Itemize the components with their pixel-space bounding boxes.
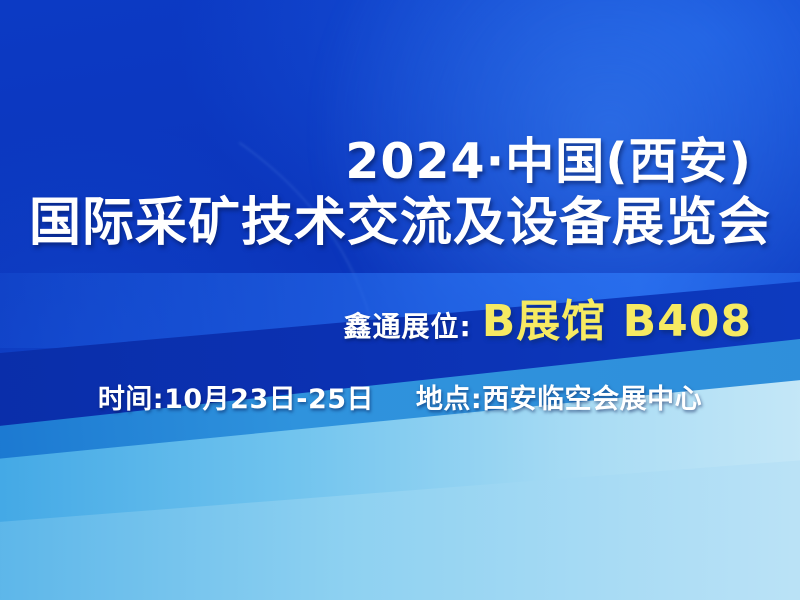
- title-line-2: 国际采矿技术交流及设备展览会: [0, 180, 800, 255]
- event-time: 时间:10月23日-25日: [98, 384, 374, 415]
- event-place: 地点:西安临空会展中心: [416, 384, 702, 415]
- event-meta-row: 时间:10月23日-25日 地点:西安临空会展中心: [0, 377, 800, 416]
- booth-label: 鑫通展位:: [344, 305, 472, 345]
- exhibition-poster: 2024·中国(西安) 国际采矿技术交流及设备展览会 鑫通展位: B展馆 B40…: [0, 0, 800, 600]
- poster-content: 2024·中国(西安) 国际采矿技术交流及设备展览会 鑫通展位: B展馆 B40…: [0, 0, 800, 600]
- booth-number: B展馆 B408: [482, 285, 752, 349]
- booth-row: 鑫通展位: B展馆 B408: [0, 285, 752, 349]
